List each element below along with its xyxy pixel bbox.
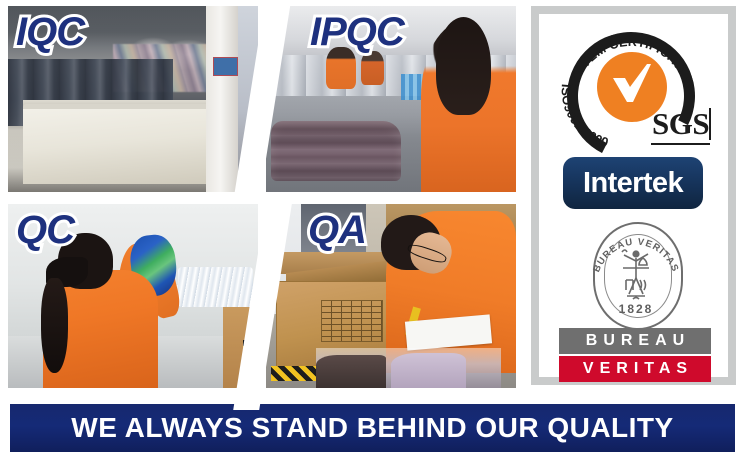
inspector-hair [436, 17, 491, 115]
bv-seal-year: 1828 [593, 302, 679, 316]
sewing-worker-2 [361, 51, 384, 85]
bureau-veritas-logo[interactable]: BUREAU VERITAS [551, 222, 719, 378]
bv-bar-bureau-label: BUREAU [580, 332, 690, 350]
poly-bag-dark [316, 355, 386, 388]
carton-label-grid [321, 300, 383, 342]
svg-text:ISO9001:2000: ISO9001:2000 [559, 83, 611, 150]
divider-horizontal [0, 192, 523, 204]
bv-bar-veritas: VERITAS [559, 356, 711, 382]
quality-slogan-banner: WE ALWAYS STAND BEHIND OUR QUALITY [10, 404, 735, 452]
stacked-fabric-right [178, 267, 253, 307]
photo-label-qa: QA [308, 210, 366, 250]
quality-control-infographic: IQC IPQC QC QA [0, 0, 745, 463]
poly-bag-lavender [391, 353, 466, 388]
photo-label-qc: QC [16, 210, 74, 250]
certification-panel: SYSTEM CERTIFICATION ISO9001:2000 SGS [531, 6, 736, 385]
grid-frame-left [0, 0, 8, 392]
intertek-wordmark: Intertek [583, 167, 683, 200]
photo-image-qa [266, 204, 516, 388]
grid-frame-top [0, 0, 523, 6]
photo-cell-qa[interactable] [266, 204, 516, 388]
inspection-machine [23, 104, 218, 184]
grid-frame-bottom [0, 388, 523, 394]
folded-shirts-shading [271, 121, 401, 181]
photo-label-iqc: IQC [16, 12, 84, 52]
sgs-tick-mark [709, 108, 711, 140]
grid-frame-right [516, 0, 524, 392]
quality-slogan-text: WE ALWAYS STAND BEHIND OUR QUALITY [71, 412, 673, 444]
sgs-logo[interactable]: SYSTEM CERTIFICATION ISO9001:2000 SGS [553, 22, 715, 140]
intertek-logo[interactable]: Intertek [563, 157, 703, 209]
hair-braid [41, 278, 69, 374]
wall-sign [213, 57, 238, 76]
bv-bar-bureau: BUREAU [559, 328, 711, 354]
certification-panel-inner: SYSTEM CERTIFICATION ISO9001:2000 SGS [539, 14, 728, 377]
bv-bar-veritas-label: VERITAS [577, 360, 693, 378]
warehouse-pillar [206, 6, 239, 194]
hazard-stripe-qa [271, 366, 316, 381]
photo-label-ipqc: IPQC [310, 12, 404, 52]
photo-grid: IQC IPQC QC QA [0, 0, 523, 392]
bv-seal-figure-icon [613, 246, 659, 302]
sgs-wordmark: SGS [651, 106, 710, 145]
